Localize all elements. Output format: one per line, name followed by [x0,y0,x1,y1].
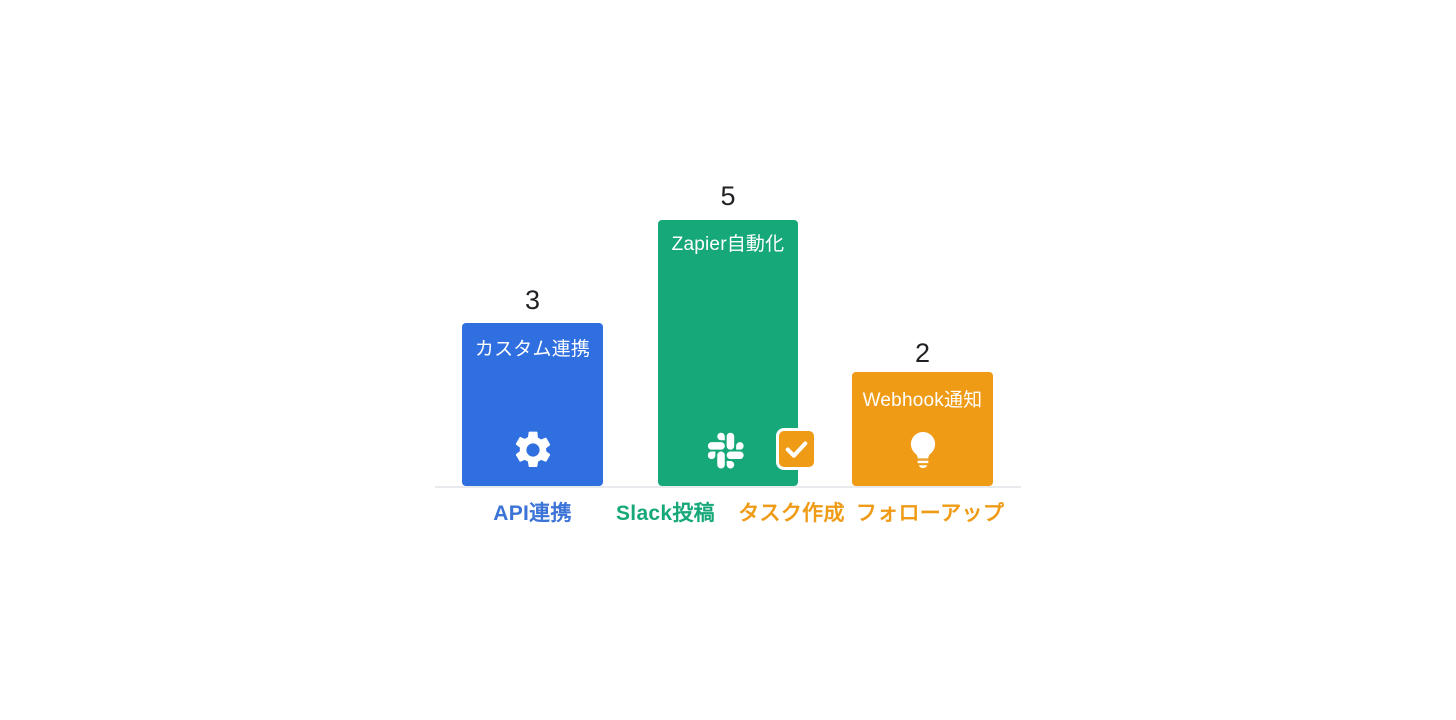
plot-area: 3 カスタム連携 5 Zapier自動化 [0,0,1456,720]
lightbulb-icon [901,428,945,472]
bar-follow-up[interactable]: Webhook通知 [852,372,993,486]
bar-inner-label-api: カスタム連携 [462,339,603,361]
gear-icon [511,428,555,472]
x-axis-baseline [435,486,1021,488]
bar-api-renkei[interactable]: カスタム連携 [462,323,603,486]
x-axis-label-slack-toukou: Slack投稿 [595,501,736,526]
bar-chart: 3 カスタム連携 5 Zapier自動化 [0,0,1456,720]
bar-value-label-followup: 2 [852,338,993,368]
bar-value-label-slack: 5 [658,181,798,211]
bar-value-label-api: 3 [462,285,603,315]
checkbox-checked-icon[interactable] [776,428,817,470]
x-axis-label-follow-up: フォローアップ [840,501,1020,526]
bar-inner-label-slack: Zapier自動化 [658,234,798,256]
bar-inner-label-followup: Webhook通知 [852,390,993,412]
x-axis-label-api-renkei: API連携 [462,501,603,526]
slack-icon [706,428,750,472]
